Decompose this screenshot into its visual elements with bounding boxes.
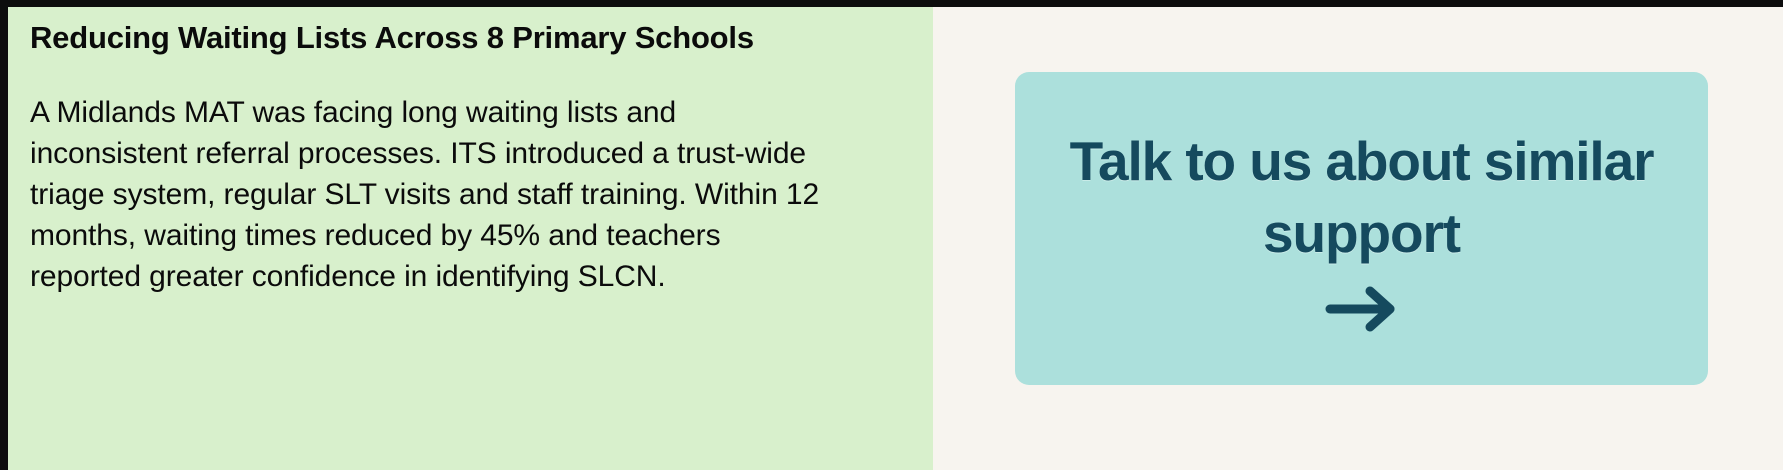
case-study-cta-section: Reducing Waiting Lists Across 8 Primary … <box>0 0 1783 470</box>
cta-label: Talk to us about similar support <box>1049 126 1674 269</box>
case-study-title: Reducing Waiting Lists Across 8 Primary … <box>30 18 830 58</box>
arrow-right-icon[interactable] <box>1320 283 1404 335</box>
cta-arrow-row <box>1049 283 1674 335</box>
cta-panel: Talk to us about similar support <box>933 0 1783 470</box>
case-study-panel: Reducing Waiting Lists Across 8 Primary … <box>0 0 933 470</box>
talk-to-us-cta-button[interactable]: Talk to us about similar support <box>1015 72 1708 385</box>
case-study-body-text: A Midlands MAT was facing long waiting l… <box>30 92 820 297</box>
top-divider-rule <box>0 0 1783 7</box>
